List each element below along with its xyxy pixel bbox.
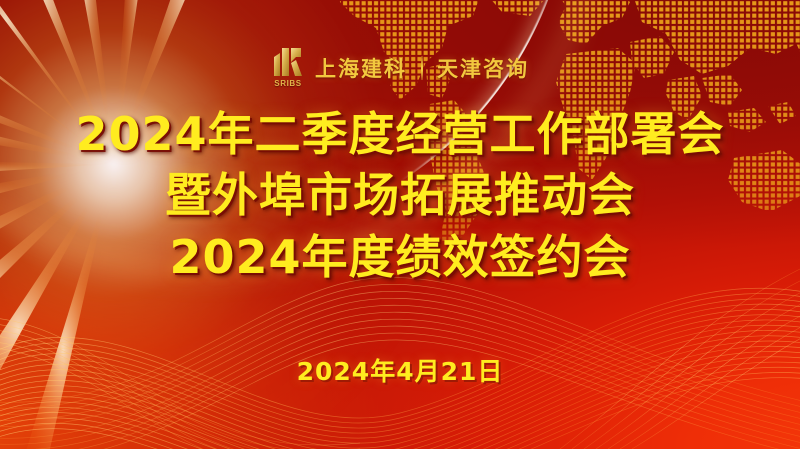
brand-secondary-name: 天津咨询 xyxy=(437,53,529,83)
conference-banner: SRIBS 上海建科 天津咨询 2024年二季度经营工作部署会 暨外埠市场拓展推… xyxy=(0,0,800,449)
brand-primary-name: 上海建科 xyxy=(315,53,407,83)
main-title-block: 2024年二季度经营工作部署会 暨外埠市场拓展推动会 2024年度绩效签约会 xyxy=(0,108,800,284)
logo-abbreviation: SRIBS xyxy=(274,79,301,88)
sribs-k-logo-icon: SRIBS xyxy=(271,46,305,90)
title-line-2: 暨外埠市场拓展推动会 xyxy=(0,169,800,222)
brand-separator xyxy=(421,56,423,80)
event-date: 2024年4月21日 xyxy=(0,352,800,388)
title-line-1: 2024年二季度经营工作部署会 xyxy=(0,108,800,161)
title-line-3: 2024年度绩效签约会 xyxy=(0,231,800,284)
brand-header: SRIBS 上海建科 天津咨询 xyxy=(0,46,800,90)
